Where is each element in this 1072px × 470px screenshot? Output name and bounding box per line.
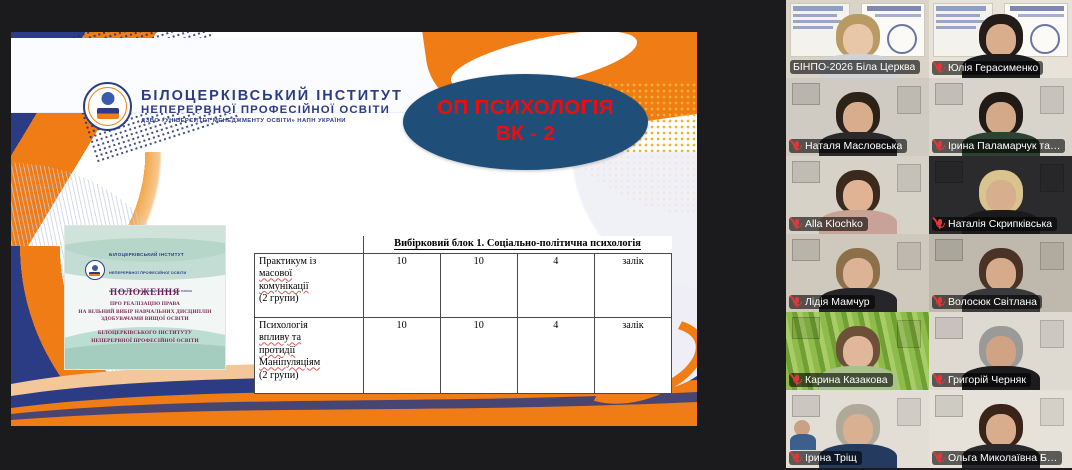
screen-share-stage: БІЛОЦЕРКІВСЬКИЙ ІНСТИТУТ НЕПЕРЕРВНОЇ ПРО…	[0, 0, 786, 470]
mic-muted-icon	[792, 452, 802, 464]
discipline-name-line5: (2 групи)	[259, 370, 299, 381]
discipline-name-line4: (2 групи)	[259, 293, 299, 304]
mic-muted-icon	[792, 140, 802, 152]
institute-name-line3: ДЗВО «УНІВЕРСИТЕТ МЕНЕДЖМЕНТУ ОСВІТИ» НА…	[141, 118, 403, 124]
participant-tile[interactable]: Лідія Мамчур	[786, 234, 929, 312]
participant-name: Наталя Масловська	[805, 140, 902, 152]
discipline-name-line3: протидії	[259, 345, 295, 356]
hours-lecture-cell: 10	[363, 317, 440, 393]
participant-name-badge: Волосюк Світлана	[932, 295, 1042, 309]
participant-tile[interactable]: Карина Казакова	[786, 312, 929, 390]
mic-muted-icon	[935, 452, 945, 464]
participant-name: Карина Казакова	[805, 374, 888, 386]
discipline-name-line2: впливу та	[259, 332, 301, 343]
participant-filmstrip[interactable]: БІНПО-2026 Біла ЦеркваЮлія ГерасименкоНа…	[786, 0, 1072, 470]
participant-name-badge: БІНПО-2026 Біла Церква	[790, 60, 920, 74]
participant-name: Григорій Черняк	[948, 374, 1026, 386]
document-sub4: БІЛОЦЕРКІВСЬКОГО ІНСТИТУТУ	[98, 330, 192, 336]
elective-block-table: Вибірковий блок 1. Соціально-політична п…	[254, 236, 672, 394]
participant-tile[interactable]: Юлія Герасименко	[929, 0, 1072, 78]
discipline-name-line4: Маніпуляціям	[259, 357, 320, 368]
discipline-name-line1: Практикум із	[259, 256, 316, 267]
mic-muted-icon	[935, 218, 945, 230]
participant-name-badge: Ольга Миколаївна Б…	[932, 451, 1062, 465]
mic-muted-icon	[935, 62, 945, 74]
credits-cell: 4	[517, 317, 594, 393]
hours-practice-cell: 10	[440, 317, 517, 393]
document-heading: ПОЛОЖЕННЯ	[65, 287, 225, 297]
discipline-name-line2: масової	[259, 268, 292, 279]
slide-title-line2: ВК - 2	[496, 121, 555, 148]
participant-tile[interactable]: Наталія Скрипківська	[929, 156, 1072, 234]
mic-muted-icon	[792, 296, 802, 308]
participant-name: Ірина Паламарчук та…	[948, 140, 1060, 152]
mic-muted-icon	[935, 374, 945, 386]
table-block-header: Вибірковий блок 1. Соціально-політична п…	[363, 236, 672, 253]
slide-title-ellipse: ОП ПСИХОЛОГІЯ ВК - 2	[403, 74, 648, 170]
participant-name-badge: Alla Klochko	[789, 217, 868, 231]
participant-name: Юлія Герасименко	[948, 62, 1038, 74]
participant-name-badge: Ірина Тріщ	[789, 451, 862, 465]
discipline-name-line3: комунікації	[259, 281, 309, 292]
participant-tile[interactable]: Волосюк Світлана	[929, 234, 1072, 312]
institute-lockup: БІЛОЦЕРКІВСЬКИЙ ІНСТИТУТ НЕПЕРЕРВНОЇ ПРО…	[83, 82, 403, 131]
table-header-blank	[255, 236, 364, 253]
participant-tile[interactable]: Ірина Тріщ	[786, 390, 929, 468]
hours-lecture-cell: 10	[363, 253, 440, 317]
participant-name: Наталія Скрипківська	[948, 218, 1052, 230]
table-row: Практикум із масової комунікації (2 груп…	[255, 253, 672, 317]
regulation-document-image: БІЛОЦЕРКІВСЬКИЙ ІНСТИТУТ НЕПЕРЕРВНОЇ ПРО…	[64, 225, 226, 370]
participant-name: Alla Klochko	[805, 218, 863, 230]
participant-tile[interactable]: БІНПО-2026 Біла Церква	[786, 0, 929, 78]
mic-muted-icon	[935, 296, 945, 308]
participant-name-badge: Наталія Скрипківська	[932, 217, 1057, 231]
participant-name-badge: Лідія Мамчур	[789, 295, 875, 309]
table-header-row: Вибірковий блок 1. Соціально-політична п…	[255, 236, 672, 253]
discipline-name-cell: Практикум із масової комунікації (2 груп…	[255, 253, 364, 317]
participant-tile[interactable]: Наталя Масловська	[786, 78, 929, 156]
participant-tile[interactable]: Григорій Черняк	[929, 312, 1072, 390]
document-sub2: НА ВІЛЬНИЙ ВИБІР НАВЧАЛЬНИХ ДИСЦИПЛІН	[78, 309, 211, 315]
mic-muted-icon	[792, 218, 802, 230]
document-sub1: ПРО РЕАЛІЗАЦІЮ ПРАВА	[110, 301, 180, 307]
institute-name-line1: БІЛОЦЕРКІВСЬКИЙ ІНСТИТУТ	[141, 89, 403, 104]
discipline-name-cell: Психологія впливу та протидії Маніпуляці…	[255, 317, 364, 393]
document-logo-line1: БІЛОЦЕРКІВСЬКИЙ ІНСТИТУТ	[109, 252, 184, 257]
participant-tile[interactable]: Ольга Миколаївна Б…	[929, 390, 1072, 468]
participant-name-badge: Юлія Герасименко	[932, 61, 1043, 75]
discipline-name-line1: Психологія	[259, 320, 308, 331]
participant-name: Волосюк Світлана	[948, 296, 1037, 308]
credits-cell: 4	[517, 253, 594, 317]
presentation-slide: БІЛОЦЕРКІВСЬКИЙ ІНСТИТУТ НЕПЕРЕРВНОЇ ПРО…	[11, 32, 697, 426]
document-sub3: ЗДОБУВАЧАМИ ВИЩОЇ ОСВІТИ	[101, 316, 189, 322]
document-sub5: НЕПЕРЕРВНОЇ ПРОФЕСІЙНОЇ ОСВІТИ	[91, 338, 198, 344]
participant-name-badge: Григорій Черняк	[932, 373, 1031, 387]
participant-name-badge: Ірина Паламарчук та…	[932, 139, 1065, 153]
participant-name-badge: Карина Казакова	[789, 373, 893, 387]
slide-title-line1: ОП ПСИХОЛОГІЯ	[437, 96, 614, 121]
participant-tile[interactable]: Ірина Паламарчук та…	[929, 78, 1072, 156]
participant-name: Лідія Мамчур	[805, 296, 870, 308]
participant-name: БІНПО-2026 Біла Церква	[793, 61, 915, 73]
participant-tile[interactable]: Alla Klochko	[786, 156, 929, 234]
document-logo-line2: НЕПЕРЕРВНОЇ ПРОФЕСІЙНОЇ ОСВІТИ	[109, 271, 186, 275]
institute-emblem-icon	[83, 82, 132, 131]
participant-name-badge: Наталя Масловська	[789, 139, 907, 153]
assessment-cell: залік	[594, 253, 671, 317]
mic-muted-icon	[792, 374, 802, 386]
mic-muted-icon	[935, 140, 945, 152]
table-row: Психологія впливу та протидії Маніпуляці…	[255, 317, 672, 393]
hours-practice-cell: 10	[440, 253, 517, 317]
participant-name: Ольга Миколаївна Б…	[948, 452, 1057, 464]
participant-name: Ірина Тріщ	[805, 452, 857, 464]
document-emblem-icon	[85, 260, 105, 280]
institute-name-line2: НЕПЕРЕРВНОЇ ПРОФЕСІЙНОЇ ОСВІТИ	[141, 104, 403, 116]
app-root: БІЛОЦЕРКІВСЬКИЙ ІНСТИТУТ НЕПЕРЕРВНОЇ ПРО…	[0, 0, 1072, 470]
assessment-cell: залік	[594, 317, 671, 393]
